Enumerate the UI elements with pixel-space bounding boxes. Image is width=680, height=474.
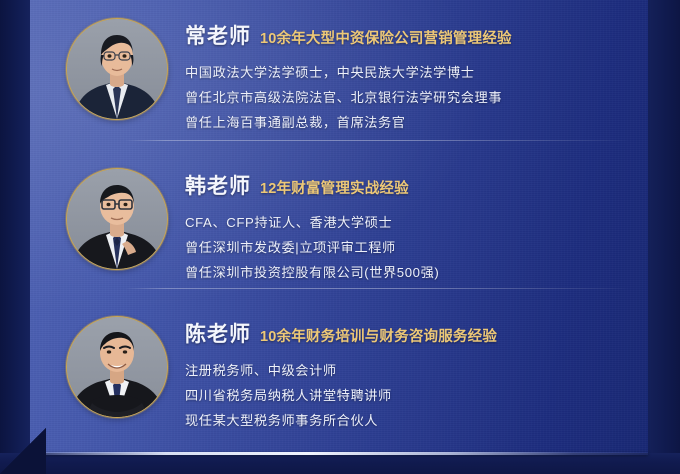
teacher-card[interactable]: 陈老师 10余年财务培训与财务咨询服务经验 注册税务师、中级会计师 四川省税务局…: [30, 300, 648, 450]
avatar: [66, 316, 168, 418]
teacher-credentials: 中国政法大学法学硕士，中央民族大学法学博士 曾任北京市高级法院法官、北京银行法学…: [185, 60, 635, 135]
teacher-info: 韩老师 12年财富管理实战经验 CFA、CFP持证人、香港大学硕士 曾任深圳市发…: [185, 170, 635, 285]
credential-line: 注册税务师、中级会计师: [185, 358, 635, 383]
teacher-info: 常老师 10余年大型中资保险公司营销管理经验 中国政法大学法学硕士，中央民族大学…: [185, 20, 635, 135]
bottom-base-bar: [0, 453, 680, 474]
bottom-highlight-rail: [30, 452, 648, 455]
teacher-credentials: 注册税务师、中级会计师 四川省税务局纳税人讲堂特聘讲师 现任某大型税务师事务所合…: [185, 358, 635, 433]
portrait-illustration-icon: [67, 169, 167, 269]
teacher-credentials: CFA、CFP持证人、香港大学硕士 曾任深圳市发改委|立项评审工程师 曾任深圳市…: [185, 210, 635, 285]
avatar: [66, 18, 168, 120]
credential-line: 中国政法大学法学硕士，中央民族大学法学博士: [185, 60, 635, 85]
row-divider: [125, 140, 630, 141]
teacher-name: 常老师: [185, 20, 251, 50]
row-divider: [125, 288, 630, 289]
teacher-card[interactable]: 韩老师 12年财富管理实战经验 CFA、CFP持证人、香港大学硕士 曾任深圳市发…: [30, 150, 648, 300]
teacher-headline: 陈老师 10余年财务培训与财务咨询服务经验: [185, 318, 635, 348]
teacher-info: 陈老师 10余年财务培训与财务咨询服务经验 注册税务师、中级会计师 四川省税务局…: [185, 318, 635, 433]
credential-line: 现任某大型税务师事务所合伙人: [185, 408, 635, 433]
credential-line: 曾任北京市高级法院法官、北京银行法学研究会理事: [185, 85, 635, 110]
avatar: [66, 168, 168, 270]
teacher-tagline: 12年财富管理实战经验: [260, 177, 409, 198]
teacher-name: 陈老师: [185, 318, 251, 348]
right-edge-band: [646, 0, 680, 474]
left-edge-band: [0, 0, 30, 474]
credential-line: 曾任上海百事通副总裁，首席法务官: [185, 110, 635, 135]
portrait-illustration-icon: [67, 317, 167, 417]
teacher-card[interactable]: 常老师 10余年大型中资保险公司营销管理经验 中国政法大学法学硕士，中央民族大学…: [30, 0, 648, 150]
teacher-tagline: 10余年财务培训与财务咨询服务经验: [260, 325, 497, 346]
teacher-tagline: 10余年大型中资保险公司营销管理经验: [260, 27, 512, 48]
teacher-headline: 常老师 10余年大型中资保险公司营销管理经验: [185, 20, 635, 50]
portrait-illustration-icon: [67, 19, 167, 119]
teacher-profiles-banner: 常老师 10余年大型中资保险公司营销管理经验 中国政法大学法学硕士，中央民族大学…: [0, 0, 680, 474]
teacher-name: 韩老师: [185, 170, 251, 200]
credential-line: 曾任深圳市投资控股有限公司(世界500强): [185, 260, 635, 285]
credential-line: CFA、CFP持证人、香港大学硕士: [185, 210, 635, 235]
credential-line: 四川省税务局纳税人讲堂特聘讲师: [185, 383, 635, 408]
credential-line: 曾任深圳市发改委|立项评审工程师: [185, 235, 635, 260]
teacher-headline: 韩老师 12年财富管理实战经验: [185, 170, 635, 200]
